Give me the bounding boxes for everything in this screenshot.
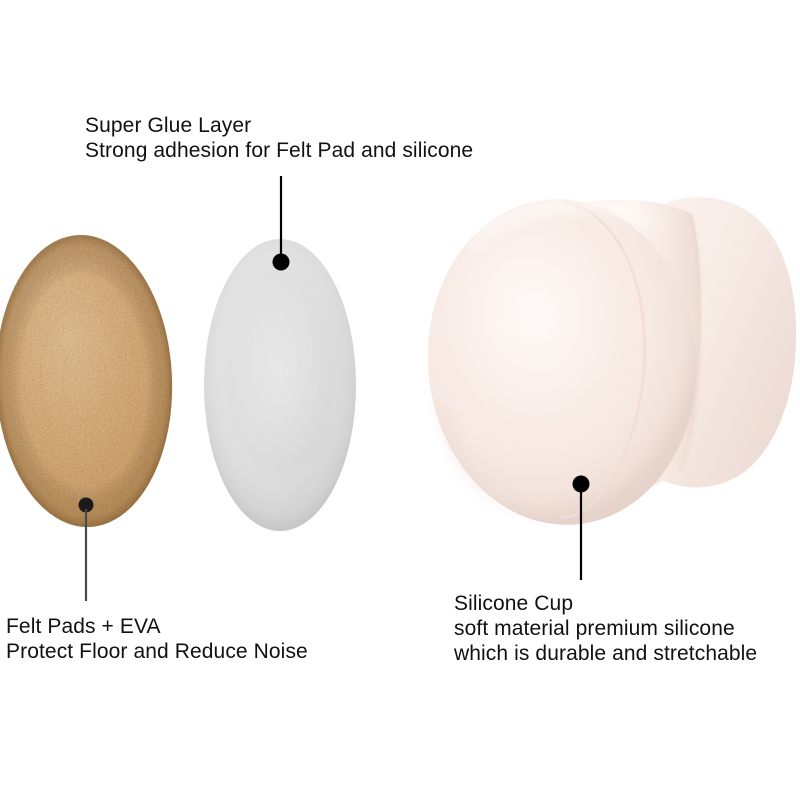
callout-cup-description-line-2: which is durable and stretchable — [454, 641, 757, 666]
callout-felt-title: Felt Pads + EVA — [6, 614, 308, 639]
callout-cup-title: Silicone Cup — [454, 591, 757, 616]
callout-felt-description: Protect Floor and Reduce Noise — [6, 639, 308, 664]
callout-super-glue-layer: Super Glue Layer Strong adhesion for Fel… — [85, 113, 473, 163]
callout-glue-title: Super Glue Layer — [85, 113, 473, 138]
infographic-canvas: Super Glue Layer Strong adhesion for Fel… — [0, 0, 800, 800]
callout-felt-pads-eva: Felt Pads + EVA Protect Floor and Reduce… — [6, 614, 308, 664]
glue-layer-part — [204, 239, 356, 531]
leader-dot-glue — [273, 254, 290, 271]
callout-silicone-cup: Silicone Cup soft material premium silic… — [454, 591, 757, 666]
callout-glue-description: Strong adhesion for Felt Pad and silicon… — [85, 138, 473, 163]
callout-cup-description-line-1: soft material premium silicone — [454, 616, 757, 641]
glue-layer-shading — [204, 239, 356, 531]
